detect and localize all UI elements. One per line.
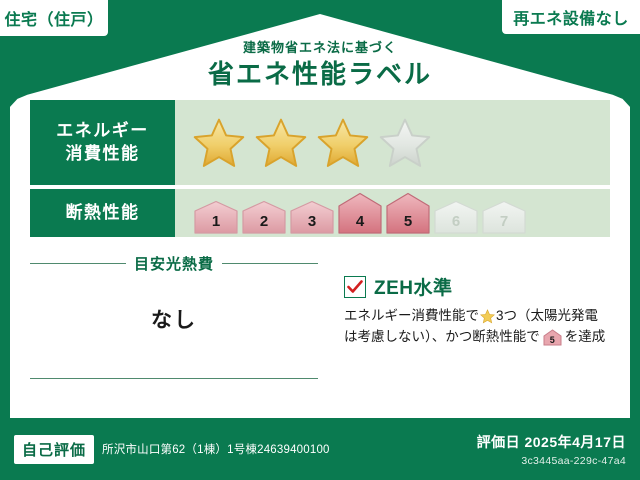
- utility-cost-heading: 目安光熱費: [30, 249, 318, 274]
- star-icon-filled: [317, 117, 369, 169]
- title-main: 省エネ性能ラベル: [0, 58, 640, 91]
- energy-performance-label: エネルギー 消費性能: [30, 100, 175, 185]
- insulation-grade-number: 7: [481, 214, 527, 229]
- star-icon-filled: [193, 117, 245, 169]
- insulation-grade-number: 1: [193, 214, 239, 229]
- zeh-heading: ZEH水準: [344, 273, 610, 300]
- building-identifier: 所沢市山口第62（1棟）1号棟24639400100: [102, 441, 330, 457]
- utility-cost-rule-left: [30, 263, 126, 264]
- page-title: 建築物省エネ法に基づく 省エネ性能ラベル: [0, 40, 640, 90]
- energy-performance-label-line2: 消費性能: [66, 143, 140, 166]
- star-icon-filled: [255, 117, 307, 169]
- energy-performance-row: エネルギー 消費性能: [30, 100, 610, 185]
- label-content: エネルギー 消費性能 断熱性能 1234567 目安光熱費: [30, 100, 610, 379]
- utility-cost-value: なし: [30, 274, 318, 364]
- self-evaluation-badge: 自己評価: [14, 435, 94, 464]
- energy-performance-label-line1: エネルギー: [56, 120, 149, 143]
- grade-house-icon: 5: [543, 329, 562, 346]
- insulation-grade-1: 1: [193, 200, 239, 234]
- insulation-grade-number: 5: [385, 214, 431, 229]
- check-icon: [344, 276, 366, 298]
- footer-right: 評価日 2025年4月17日 3c3445aa-229c-47a4: [477, 432, 626, 467]
- badge-dwelling-type: 住宅（住戸）: [0, 0, 108, 36]
- energy-label-card: 住宅（住戸） 再エネ設備なし 建築物省エネ法に基づく 省エネ性能ラベル エネルギ…: [0, 0, 640, 480]
- star-icon: [480, 309, 495, 324]
- insulation-performance-row: 断熱性能 1234567: [30, 189, 610, 237]
- star-icon-empty: [379, 117, 431, 169]
- utility-cost-block: 目安光熱費 なし: [30, 249, 330, 379]
- insulation-grade-number: 3: [289, 214, 335, 229]
- insulation-grade-6: 6: [433, 200, 479, 234]
- insulation-grade-number: 6: [433, 214, 479, 229]
- footer-bar: 自己評価 所沢市山口第62（1棟）1号棟24639400100 評価日 2025…: [0, 418, 640, 480]
- zeh-line1-text-a: エネルギー消費性能で: [344, 306, 479, 327]
- evaluation-date: 評価日 2025年4月17日: [477, 432, 626, 452]
- insulation-performance-label-text: 断熱性能: [66, 202, 140, 225]
- insulation-grade-5: 5: [385, 192, 431, 234]
- badge-renewable-energy: 再エネ設備なし: [502, 0, 640, 34]
- insulation-grade-scale: 1234567: [193, 192, 527, 234]
- zeh-line1-text-b: 3つ（太陽光発電: [496, 306, 598, 327]
- energy-performance-value: [175, 100, 610, 185]
- footer-left: 自己評価 所沢市山口第62（1棟）1号棟24639400100: [14, 435, 477, 464]
- badge-dwelling-type-label: 住宅（住戸）: [4, 6, 103, 30]
- insulation-performance-value: 1234567: [175, 189, 610, 237]
- title-subtitle: 建築物省エネ法に基づく: [0, 40, 640, 56]
- utility-cost-heading-text: 目安光熱費: [134, 253, 214, 274]
- utility-cost-bottom-rule: [30, 378, 318, 379]
- insulation-grade-3: 3: [289, 200, 335, 234]
- insulation-grade-7: 7: [481, 200, 527, 234]
- star-rating: [193, 117, 431, 169]
- zeh-title: ZEH水準: [374, 273, 453, 300]
- insulation-performance-label: 断熱性能: [30, 189, 175, 237]
- insulation-grade-number: 2: [241, 214, 287, 229]
- insulation-grade-number: 4: [337, 214, 383, 229]
- insulation-grade-4: 4: [337, 192, 383, 234]
- insulation-grade-2: 2: [241, 200, 287, 234]
- document-id: 3c3445aa-229c-47a4: [477, 455, 626, 467]
- utility-cost-rule-right: [222, 263, 318, 264]
- lower-section: 目安光熱費 なし ZEH水準 エネルギー消費性能で: [30, 249, 610, 379]
- zeh-line2-text-a: は考慮しない）、かつ断熱性能で: [344, 327, 540, 348]
- zeh-block: ZEH水準 エネルギー消費性能で 3つ（太陽光発電 は考慮しない）、かつ断熱性能…: [330, 249, 610, 379]
- zeh-description-line2: は考慮しない）、かつ断熱性能で 5 を達成: [344, 327, 610, 348]
- zeh-description-line1: エネルギー消費性能で 3つ（太陽光発電: [344, 306, 610, 327]
- zeh-line2-text-b: を達成: [565, 327, 606, 348]
- grade-house-icon-number: 5: [543, 336, 562, 345]
- badge-renewable-energy-label: 再エネ設備なし: [513, 5, 629, 29]
